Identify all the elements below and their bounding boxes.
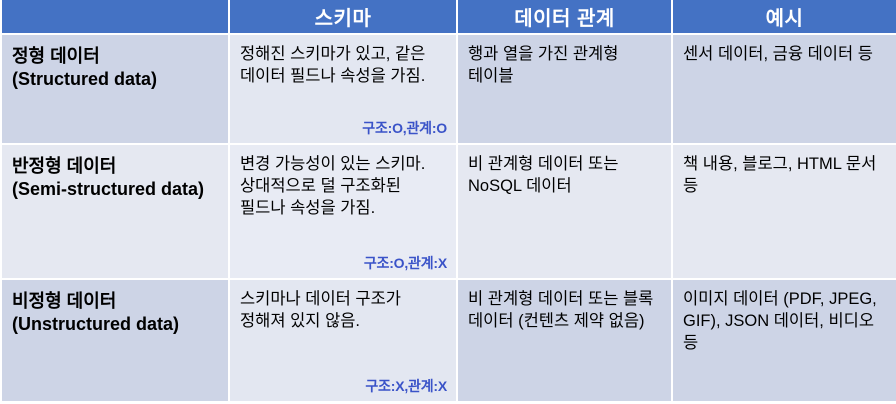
table-row: 정형 데이터 (Structured data) 정해진 스키마가 있고, 같은… <box>1 34 896 144</box>
schema-annotation: 구조:O,관계:O <box>362 119 447 138</box>
cell-example: 센서 데이터, 금융 데이터 등 <box>672 34 896 144</box>
schema-description: 정해진 스키마가 있고, 같은 데이터 필드나 속성을 가짐. <box>240 44 446 88</box>
cell-data-type: 반정형 데이터 (Semi-structured data) <box>1 144 229 279</box>
cell-example: 이미지 데이터 (PDF, JPEG, GIF), JSON 데이터, 비디오 … <box>672 279 896 402</box>
data-type-english-label: (Semi-structured data) <box>12 178 218 201</box>
table-body: 정형 데이터 (Structured data) 정해진 스키마가 있고, 같은… <box>1 34 896 402</box>
schema-description: 스키마나 데이터 구조가 정해져 있지 않음. <box>240 289 446 333</box>
table-row: 반정형 데이터 (Semi-structured data) 변경 가능성이 있… <box>1 144 896 279</box>
schema-annotation: 구조:X,관계:X <box>365 377 447 396</box>
data-type-english-label: (Unstructured data) <box>12 313 218 336</box>
cell-data-type: 정형 데이터 (Structured data) <box>1 34 229 144</box>
data-type-korean-label: 비정형 데이터 <box>12 290 218 313</box>
data-type-korean-label: 반정형 데이터 <box>12 155 218 178</box>
table-header: 스키마 데이터 관계 예시 <box>1 0 896 34</box>
cell-example: 책 내용, 블로그, HTML 문서 등 <box>672 144 896 279</box>
cell-schema: 스키마나 데이터 구조가 정해져 있지 않음. 구조:X,관계:X <box>229 279 457 402</box>
cell-relation: 행과 열을 가진 관계형 테이블 <box>457 34 672 144</box>
header-relation: 데이터 관계 <box>457 0 672 34</box>
header-blank <box>1 0 229 34</box>
cell-schema: 변경 가능성이 있는 스키마. 상대적으로 덜 구조화된 필드나 속성을 가짐.… <box>229 144 457 279</box>
cell-data-type: 비정형 데이터 (Unstructured data) <box>1 279 229 402</box>
cell-relation: 비 관계형 데이터 또는 NoSQL 데이터 <box>457 144 672 279</box>
cell-schema: 정해진 스키마가 있고, 같은 데이터 필드나 속성을 가짐. 구조:O,관계:… <box>229 34 457 144</box>
data-type-english-label: (Structured data) <box>12 68 218 91</box>
schema-description: 변경 가능성이 있는 스키마. 상대적으로 덜 구조화된 필드나 속성을 가짐. <box>240 154 446 220</box>
schema-annotation: 구조:O,관계:X <box>364 254 447 273</box>
table-header-row: 스키마 데이터 관계 예시 <box>1 0 896 34</box>
data-type-comparison-table: 스키마 데이터 관계 예시 정형 데이터 (Structured data) 정… <box>0 0 896 403</box>
table-row: 비정형 데이터 (Unstructured data) 스키마나 데이터 구조가… <box>1 279 896 402</box>
header-example: 예시 <box>672 0 896 34</box>
data-type-comparison-table-container: 스키마 데이터 관계 예시 정형 데이터 (Structured data) 정… <box>0 0 896 404</box>
header-schema: 스키마 <box>229 0 457 34</box>
data-type-korean-label: 정형 데이터 <box>12 45 218 68</box>
cell-relation: 비 관계형 데이터 또는 블록 데이터 (컨텐츠 제약 없음) <box>457 279 672 402</box>
